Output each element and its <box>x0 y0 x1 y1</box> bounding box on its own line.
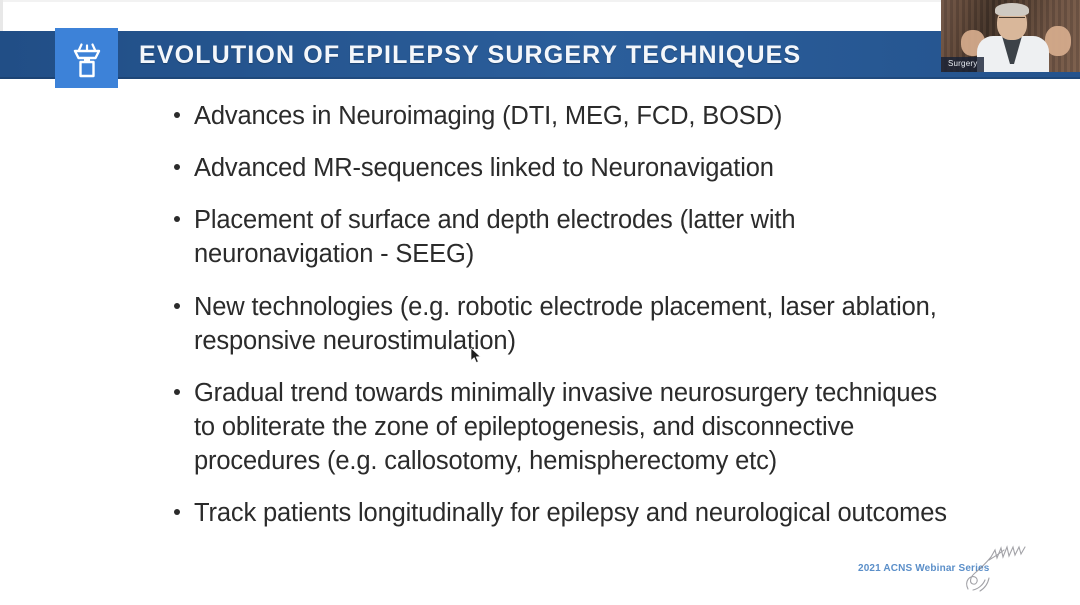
list-item-text: Advanced MR-sequences linked to Neuronav… <box>194 154 774 182</box>
list-item-text: Placement of surface and depth electrode… <box>194 206 795 268</box>
eeg-squiggle-logo <box>958 533 1028 595</box>
podium-icon-tile <box>55 28 118 88</box>
list-item-text: Advances in Neuroimaging (DTI, MEG, FCD,… <box>194 102 782 130</box>
presenter-video-tile[interactable]: Surgery <box>941 0 1080 72</box>
list-item-text: Track patients longitudinally for epilep… <box>194 499 947 527</box>
bullet-dot-icon <box>174 164 180 170</box>
video-participant-label: Surgery <box>941 57 984 72</box>
bullet-dot-icon <box>174 389 180 395</box>
bullet-dot-icon <box>174 303 180 309</box>
list-item-text: New technologies (e.g. robotic electrode… <box>194 293 937 355</box>
list-item: New technologies (e.g. robotic electrode… <box>168 290 958 358</box>
bullet-dot-icon <box>174 112 180 118</box>
list-item: Gradual trend towards minimally invasive… <box>168 376 958 478</box>
presentation-slide: EVOLUTION OF EPILEPSY SURGERY TECHNIQUES… <box>0 0 1080 605</box>
list-item-text: Gradual trend towards minimally invasive… <box>194 379 937 475</box>
bullet-dot-icon <box>174 216 180 222</box>
list-item: Advanced MR-sequences linked to Neuronav… <box>168 151 958 185</box>
bullet-list: Advances in Neuroimaging (DTI, MEG, FCD,… <box>168 99 958 549</box>
presenter-hair <box>995 3 1029 16</box>
list-item: Placement of surface and depth electrode… <box>168 203 958 271</box>
list-item: Advances in Neuroimaging (DTI, MEG, FCD,… <box>168 99 958 133</box>
window-left-edge <box>0 0 3 31</box>
list-item: Track patients longitudinally for epilep… <box>168 496 958 530</box>
bullet-dot-icon <box>174 509 180 515</box>
window-top-edge <box>0 0 1080 2</box>
page-title: EVOLUTION OF EPILEPSY SURGERY TECHNIQUES <box>139 38 801 72</box>
presenter-glasses <box>999 17 1025 23</box>
mouse-cursor <box>470 347 482 365</box>
